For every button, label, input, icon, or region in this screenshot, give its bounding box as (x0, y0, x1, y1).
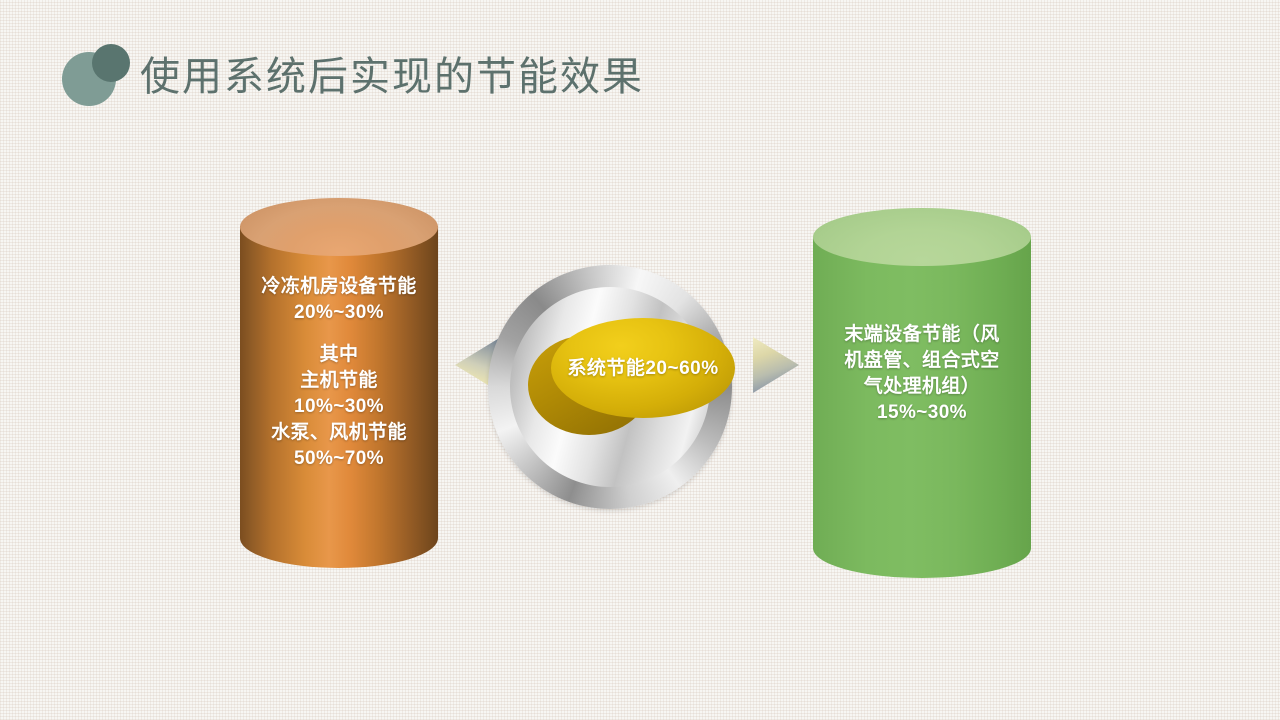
center-hub-system-saving[interactable]: 系统节能20~60% (488, 265, 732, 509)
hub-label: 系统节能20~60% (548, 353, 738, 380)
circle-icon-small (92, 44, 130, 82)
page-title: 使用系统后实现的节能效果 (140, 52, 644, 102)
cylinder-right-terminal-equipment[interactable]: 末端设备节能（风 机盘管、组合式空 气处理机组） 15%~30% (813, 208, 1031, 578)
cylinder-left-body (240, 226, 438, 568)
arrow-right-icon (753, 337, 799, 393)
logo-mark (62, 44, 128, 106)
slide-header: 使用系统后实现的节能效果 (0, 0, 1280, 140)
cylinder-right-body (813, 237, 1031, 578)
cylinder-right-top-ellipse (813, 208, 1031, 266)
slide-canvas: 使用系统后实现的节能效果 冷冻机房设备节能 20%~30% 其中 主机节能 10… (0, 0, 1280, 720)
cylinder-left-top-ellipse (240, 198, 438, 256)
cylinder-left-cooling-room[interactable]: 冷冻机房设备节能 20%~30% 其中 主机节能 10%~30% 水泵、风机节能… (240, 198, 438, 568)
